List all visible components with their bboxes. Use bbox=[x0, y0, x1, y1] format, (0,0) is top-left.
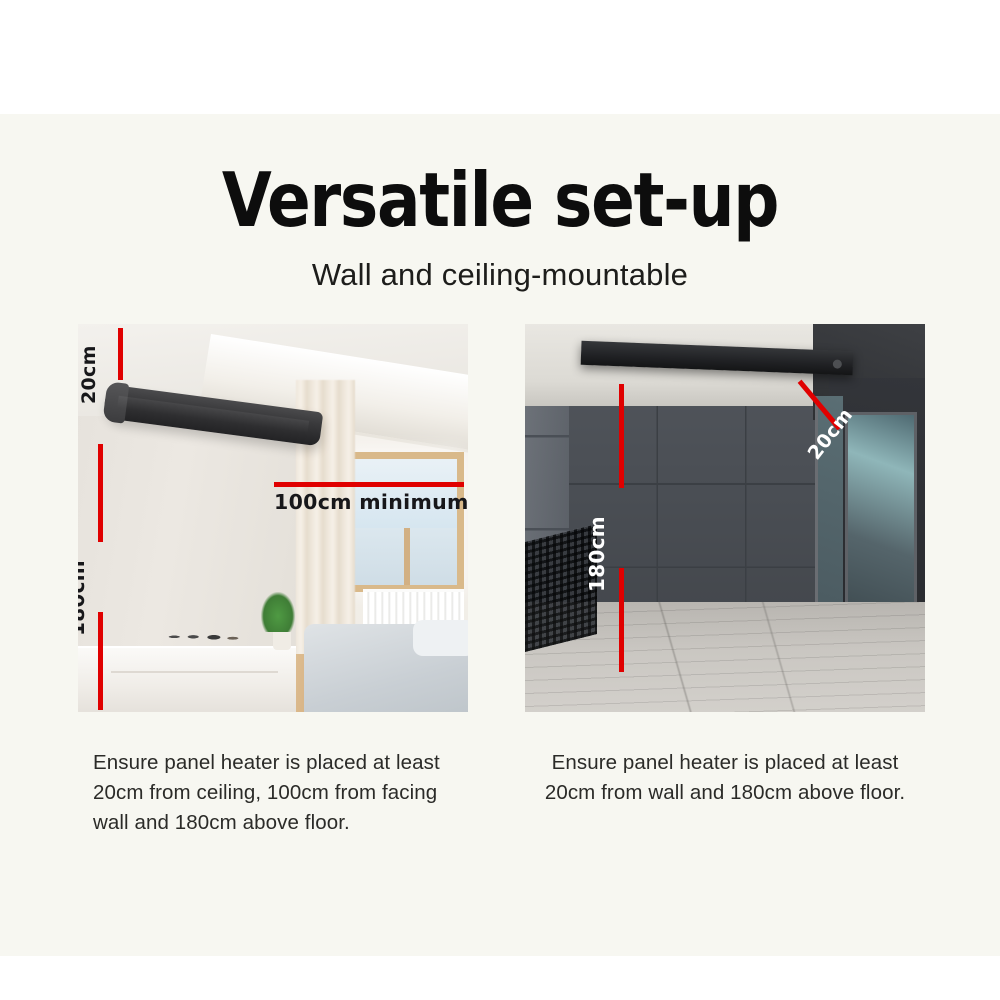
ceiling-mount-panel: 20cm 180cm Ensure panel heater is placed… bbox=[525, 324, 925, 808]
bedroom-photo: 20cm 180cm 100cm minimum bbox=[78, 324, 468, 712]
bedroom-plant bbox=[261, 592, 295, 632]
measurement-line-floor-height-upper bbox=[619, 384, 624, 488]
infographic-root: Versatile set-up Wall and ceiling-mounta… bbox=[0, 0, 1000, 1000]
bedroom-window bbox=[347, 452, 464, 592]
bedroom-pillow bbox=[413, 620, 468, 656]
measurement-label-floor-height: 180cm bbox=[585, 516, 609, 592]
bedroom-decor-objects bbox=[164, 620, 250, 644]
bedroom-sideboard bbox=[78, 646, 296, 712]
balcony-photo: 20cm 180cm bbox=[525, 324, 925, 712]
page-title: Versatile set-up bbox=[70, 160, 930, 240]
measurement-line-floor-height-lower bbox=[619, 568, 624, 672]
measurement-line-facing-wall bbox=[274, 482, 464, 487]
measurement-label-floor-height: 180cm bbox=[78, 560, 89, 636]
measurement-line-floor-height-upper bbox=[98, 444, 103, 542]
ceiling-mount-caption: Ensure panel heater is placed at least 2… bbox=[525, 748, 925, 808]
measurement-label-facing-wall: 100cm minimum bbox=[274, 490, 468, 514]
balcony-door-glass bbox=[845, 412, 917, 632]
measurement-label-ceiling-clearance: 20cm bbox=[78, 345, 100, 404]
wall-mount-panel: 20cm 180cm 100cm minimum Ensure panel he… bbox=[78, 324, 468, 838]
header: Versatile set-up Wall and ceiling-mounta… bbox=[0, 160, 1000, 294]
measurement-line-ceiling-clearance bbox=[118, 328, 123, 380]
wall-mount-caption: Ensure panel heater is placed at least 2… bbox=[78, 748, 468, 838]
page-subtitle: Wall and ceiling-mountable bbox=[0, 256, 1000, 294]
measurement-line-floor-height-lower bbox=[98, 612, 103, 710]
